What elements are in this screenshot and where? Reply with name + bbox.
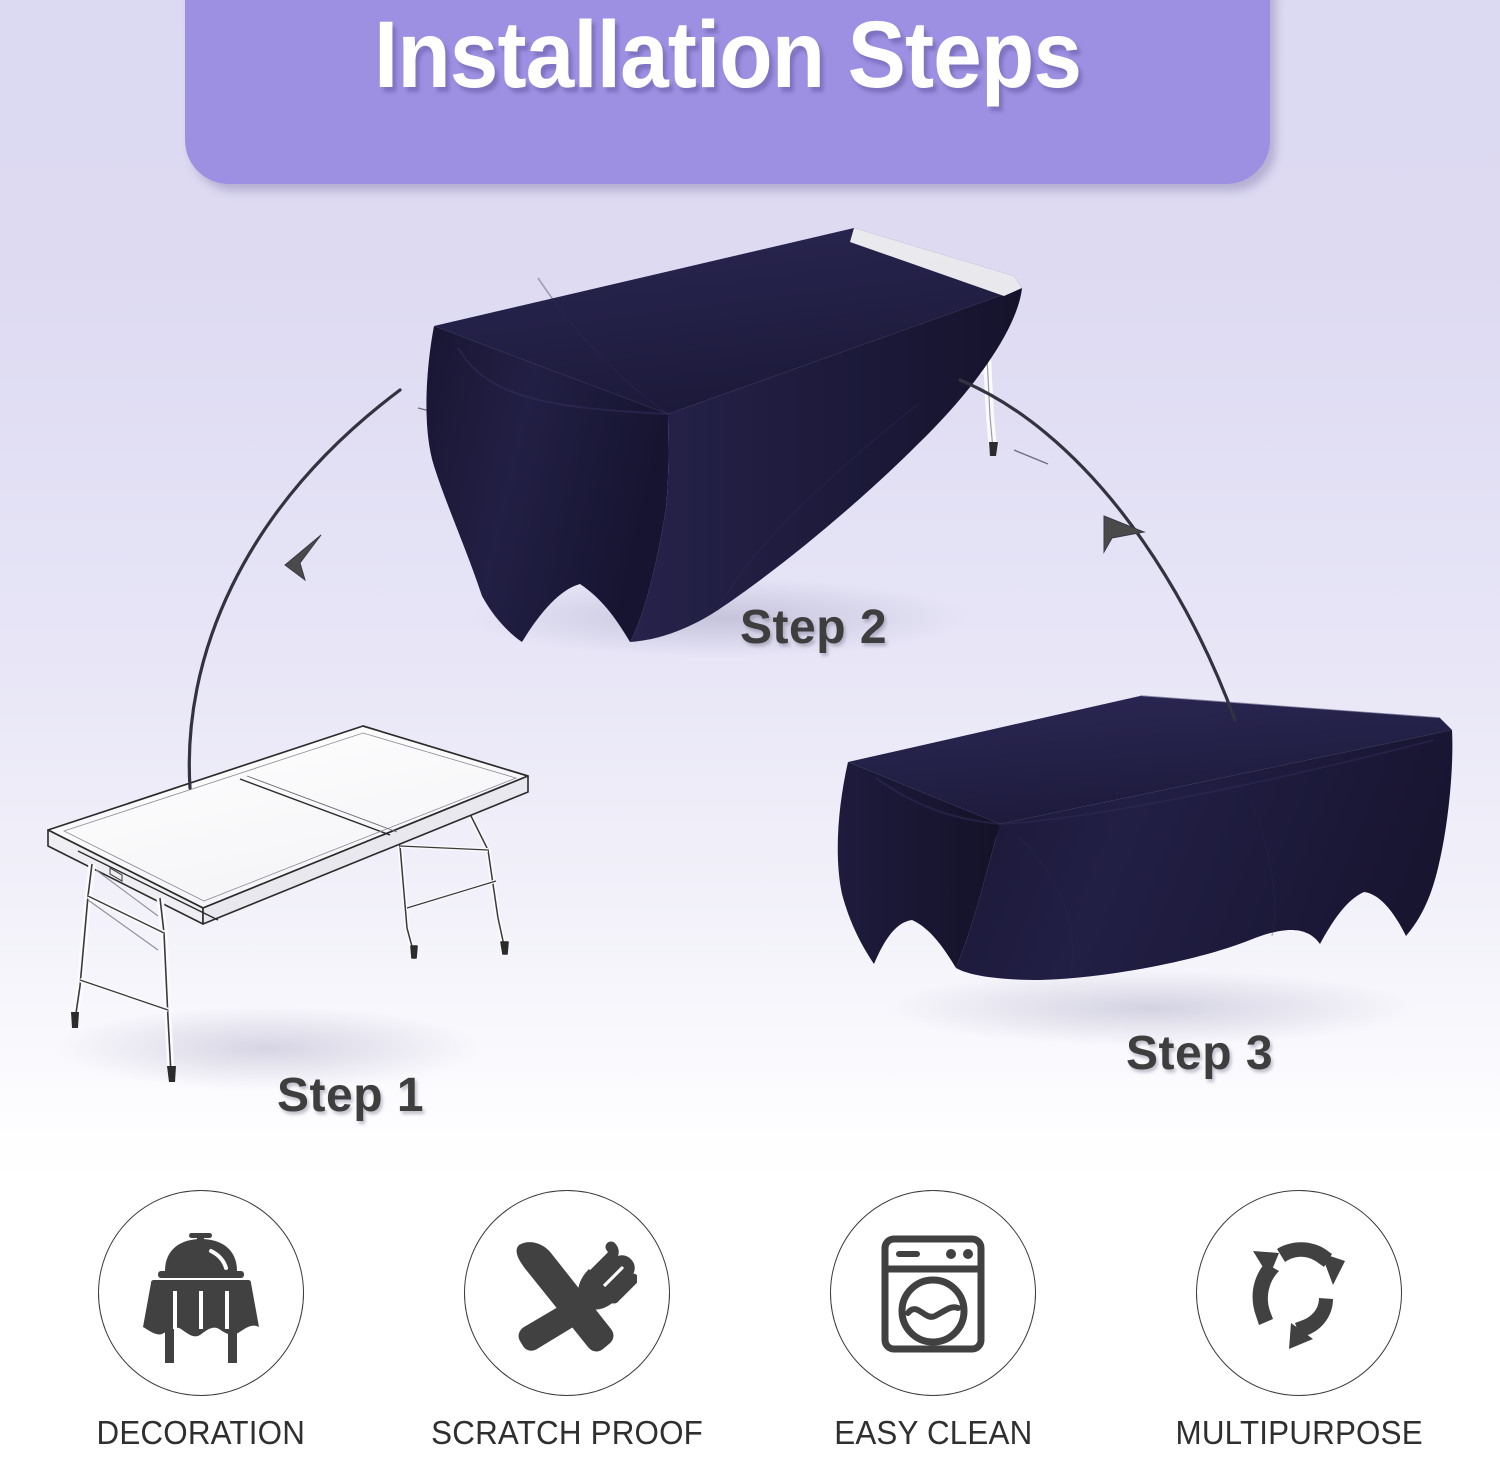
arrow-step1-to-step2	[189, 390, 400, 788]
feature-scratch-proof: SCRATCH PROOF	[402, 1180, 732, 1452]
feature-multipurpose: MULTIPURPOSE	[1134, 1180, 1464, 1452]
feature-label-multipurpose: MULTIPURPOSE	[1175, 1414, 1422, 1452]
header-banner: Installation Steps	[185, 0, 1270, 184]
feature-label-scratch-proof: SCRATCH PROOF	[431, 1414, 703, 1452]
tablecloth-cloche-icon	[98, 1190, 304, 1396]
feature-easy-clean: EASY CLEAN	[768, 1180, 1098, 1452]
arrow-step2-to-step3	[960, 380, 1235, 720]
knife-fork-icon	[464, 1190, 670, 1396]
recycle-arrows-icon	[1196, 1190, 1402, 1396]
feature-strip: DECORATION SCRATCH PROOF	[0, 1180, 1500, 1464]
step3-label: Step 3	[1126, 1026, 1273, 1081]
feature-decoration: DECORATION	[36, 1180, 366, 1452]
washing-machine-icon	[830, 1190, 1036, 1396]
feature-label-decoration: DECORATION	[97, 1414, 306, 1452]
step2-label: Step 2	[740, 600, 887, 655]
feature-label-easy-clean: EASY CLEAN	[834, 1414, 1032, 1452]
page-title: Installation Steps	[228, 1, 1226, 110]
step1-label: Step 1	[277, 1068, 424, 1123]
infographic-page: Installation Steps	[0, 0, 1500, 1464]
